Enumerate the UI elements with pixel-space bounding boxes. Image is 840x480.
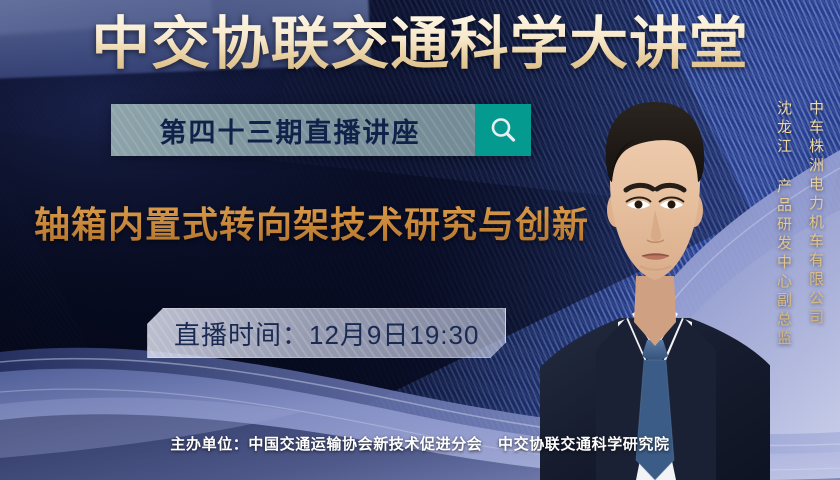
topic-title: 轴箱内置式转向架技术研究与创新 (34, 196, 589, 248)
session-bar: 第四十三期直播讲座 (111, 104, 531, 156)
live-time-badge: 直播时间：12月9日19:30 (147, 308, 506, 358)
page-title: 中交协联交通科学大讲堂 (0, 14, 840, 76)
speaker-name-and-role: 沈龙江 产品研发中心副总监 (773, 100, 794, 349)
session-label: 第四十三期直播讲座 (111, 104, 475, 156)
speaker-company: 中车株洲电力机车有限公司 (805, 100, 826, 328)
webinar-poster: 中交协联交通科学大讲堂 第四十三期直播讲座 轴箱内置式转向架技术研究与创新 直播… (0, 0, 840, 480)
search-icon[interactable] (475, 104, 531, 156)
organizer-footer: 主办单位：中国交通运输协会新技术促进分会 中交协联交通科学研究院 (0, 433, 840, 454)
